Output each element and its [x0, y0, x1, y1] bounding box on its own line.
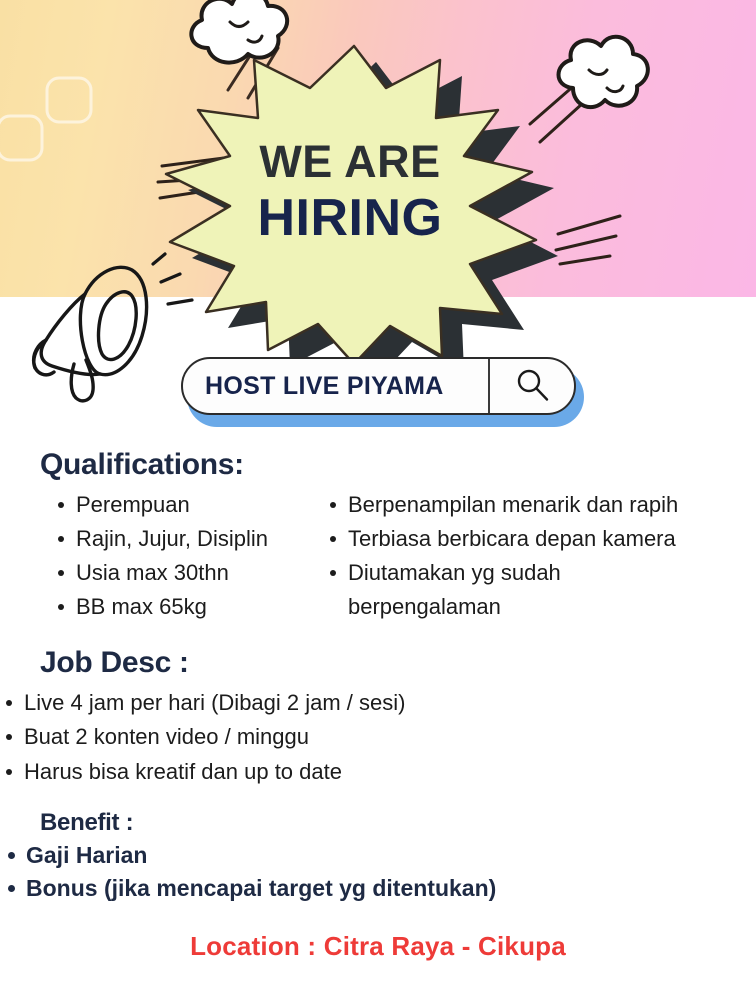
list-item: Berpenampilan menarik dan rapih: [324, 488, 724, 522]
benefit-list: Gaji Harian Bonus (jika mencapai target …: [0, 839, 756, 906]
search-bar[interactable]: HOST LIVE PIYAMA: [181, 357, 584, 427]
list-item: BB max 65kg: [52, 590, 324, 624]
job-desc-list: Live 4 jam per hari (Dibagi 2 jam / sesi…: [0, 686, 756, 788]
qualifications-heading: Qualifications:: [40, 448, 756, 482]
list-item-continuation: berpengalaman: [324, 590, 724, 624]
search-icon[interactable]: [490, 359, 574, 413]
list-item: Live 4 jam per hari (Dibagi 2 jam / sesi…: [0, 686, 756, 720]
location-text: Location : Citra Raya - Cikupa: [0, 931, 756, 962]
list-item: Harus bisa kreatif dan up to date: [0, 755, 756, 789]
list-item: Gaji Harian: [0, 839, 756, 872]
job-desc-heading: Job Desc :: [40, 646, 756, 680]
search-input[interactable]: HOST LIVE PIYAMA: [183, 359, 488, 413]
benefit-heading: Benefit :: [40, 809, 756, 837]
list-item: Perempuan: [52, 488, 324, 522]
qualifications-left-list: Perempuan Rajin, Jujur, Disiplin Usia ma…: [52, 488, 324, 624]
list-item: Diutamakan yg sudah: [324, 556, 724, 590]
poster-content: Qualifications: Perempuan Rajin, Jujur, …: [0, 448, 756, 962]
hiring-poster: WE ARE HIRING HOST LIVE PIYAMA: [0, 0, 756, 1000]
list-item: Usia max 30thn: [52, 556, 324, 590]
list-item: Rajin, Jujur, Disiplin: [52, 522, 324, 556]
starburst-callout: WE ARE HIRING: [140, 26, 560, 356]
search-bar-body[interactable]: HOST LIVE PIYAMA: [181, 357, 576, 415]
list-item: Bonus (jika mencapai target yg ditentuka…: [0, 872, 756, 905]
starburst-shape-icon: [140, 26, 560, 356]
qualifications-columns: Perempuan Rajin, Jujur, Disiplin Usia ma…: [52, 488, 756, 624]
list-item: Buat 2 konten video / minggu: [0, 720, 756, 754]
list-item: Terbiasa berbicara depan kamera: [324, 522, 724, 556]
qualifications-right-list: Berpenampilan menarik dan rapih Terbiasa…: [324, 488, 724, 624]
